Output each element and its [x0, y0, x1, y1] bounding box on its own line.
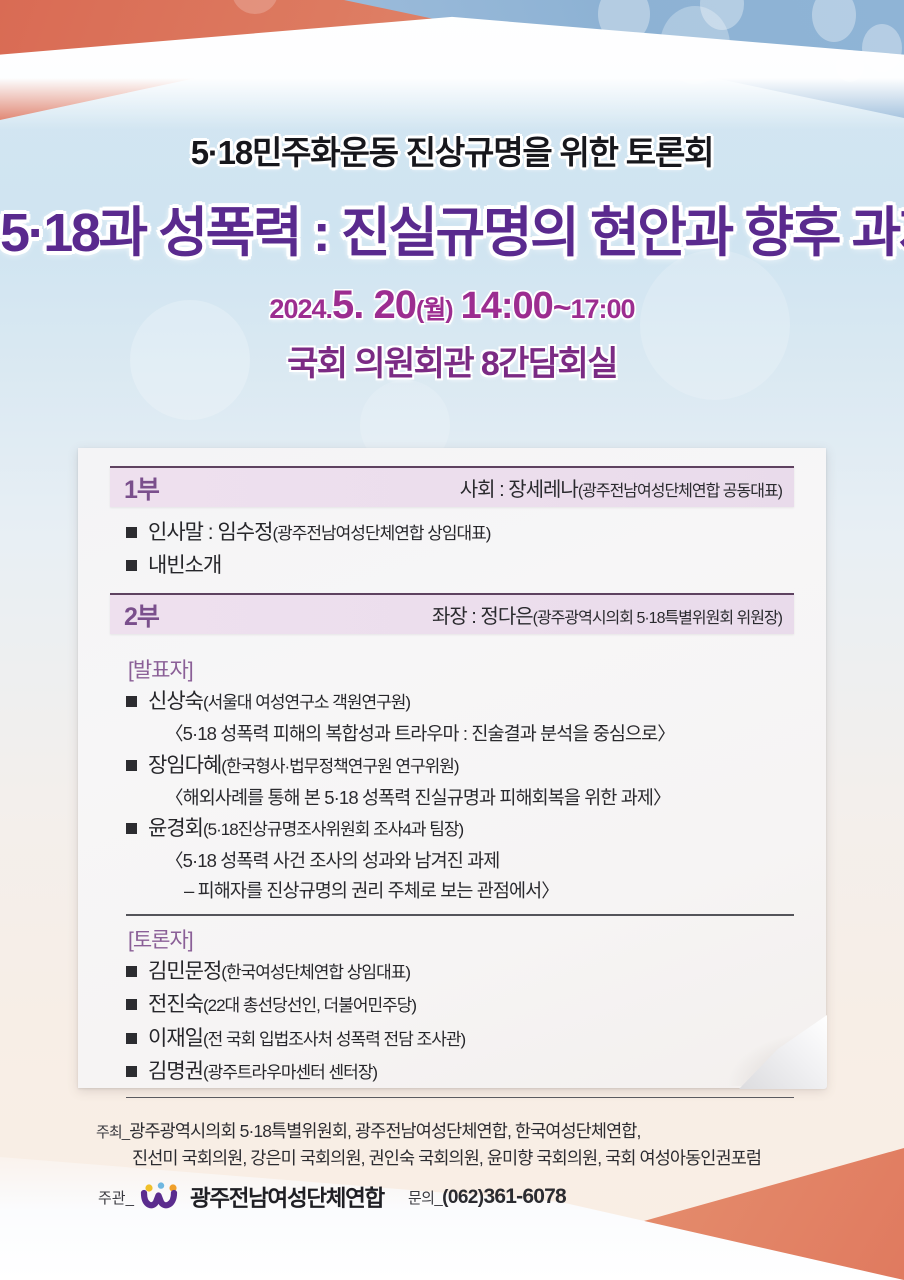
program-content: 1부 사회 : 장세레나(광주전남여성단체연합 공동대표) 인사말 : 임수정(… [110, 466, 794, 1106]
bokeh-circle [812, 0, 856, 42]
poster-header: 5·18민주화운동 진상규명을 위한 토론회 5·18과 성폭력 : 진실규명의… [0, 126, 904, 385]
host-line-2: 진선미 국회의원, 강은미 국회의원, 권인숙 국회의원, 윤미향 국회의원, … [132, 1145, 904, 1172]
square-bullet-icon [126, 760, 137, 771]
contact-info: 문의_(062)361-6078 [408, 1185, 566, 1209]
time-separator: ~ [553, 289, 571, 325]
presenter-topic: 〈5·18 성폭력 사건 조사의 성과와 남겨진 과제 [165, 848, 794, 873]
event-poster: 5·18민주화운동 진상규명을 위한 토론회 5·18과 성폭력 : 진실규명의… [0, 0, 904, 1280]
organizer-row: 주관_ 광주전남여성단체연합 문의_(062)361-6078 [98, 1181, 904, 1213]
date-year: 2024. [269, 294, 332, 324]
square-bullet-icon [126, 999, 137, 1010]
square-bullet-icon [126, 1033, 137, 1044]
part2-chair-affiliation: (광주광역시의회 5·18특별위원회 위원장) [533, 610, 782, 627]
discussant-name: 이재일 [148, 1027, 203, 1050]
discussant-affiliation: (한국여성단체연합 상임대표) [221, 963, 410, 982]
top-right-blue-shape [344, 0, 904, 118]
item-text: 김명권(광주트라우마센터 센터장) [148, 1058, 377, 1086]
host-lead-label: 주최_ [96, 1124, 129, 1141]
bokeh-circle [598, 0, 650, 44]
item-text: 윤경회(5·18진상규명조사위원회 조사4과 팀장) [148, 815, 463, 843]
list-item: 내빈소개 [126, 552, 794, 580]
item-text: 이재일(전 국회 입법조사처 성폭력 전담 조사관) [148, 1025, 465, 1053]
discussant-affiliation: (22대 총선당선인, 더불어민주당) [203, 996, 416, 1015]
discussants-label: [토론자] [128, 924, 794, 954]
presenter-topic-cont: – 피해자를 진상규명의 권리 주체로 보는 관점에서〉 [184, 878, 794, 903]
discussant-affiliation: (광주트라우마센터 센터장) [203, 1063, 377, 1082]
part1-header: 1부 사회 : 장세레나(광주전남여성단체연합 공동대표) [110, 466, 794, 507]
bottom-divider [126, 1097, 794, 1099]
part1-moderator-name: 사회 : 장세레나 [460, 479, 578, 501]
discussant-name: 김민문정 [148, 960, 221, 983]
square-bullet-icon [126, 966, 137, 977]
square-bullet-icon [126, 696, 137, 707]
date-month-day: 5. 20 [332, 283, 416, 327]
host-organizations-1: 광주광역시의회 5·18특별위원회, 광주전남여성단체연합, 한국여성단체연합, [129, 1121, 640, 1141]
section-divider [126, 914, 794, 916]
list-item: 장임다혜(한국형사·법무정책연구원 연구위원) [126, 752, 794, 780]
bokeh-circle [836, 50, 864, 82]
presenter-topic: 〈해외사례를 통해 본 5·18 성폭력 진실규명과 피해회복을 위한 과제〉 [165, 785, 794, 810]
contact-area-code: (062) [442, 1187, 483, 1208]
bokeh-circle [232, 0, 278, 14]
discussant-affiliation: (전 국회 입법조사처 성폭력 전담 조사관) [203, 1030, 465, 1049]
top-left-coral-shape [0, 0, 560, 120]
item-text: 전진숙(22대 총선당선인, 더불어민주당) [148, 991, 416, 1019]
organizer-lead-label: 주관_ [98, 1187, 134, 1208]
part2-chair: 좌장 : 정다은(광주광역시의회 5·18특별위원회 위원장) [432, 600, 782, 629]
date-day-of-week: (월) [416, 296, 453, 324]
list-item: 인사말 : 임수정(광주전남여성단체연합 상임대표) [126, 519, 794, 547]
organization-logo-icon [139, 1182, 183, 1212]
item-text: 장임다혜(한국형사·법무정책연구원 연구위원) [148, 752, 459, 780]
presenters-label: [발표자] [128, 654, 794, 684]
list-item: 전진숙(22대 총선당선인, 더불어민주당) [126, 991, 794, 1019]
contact-lead-label: 문의_ [408, 1190, 442, 1207]
part2-header: 2부 좌장 : 정다은(광주광역시의회 5·18특별위원회 위원장) [110, 593, 794, 634]
discussant-name: 전진숙 [148, 993, 203, 1016]
item-text: 내빈소개 [148, 552, 221, 580]
program-card: 1부 사회 : 장세레나(광주전남여성단체연합 공동대표) 인사말 : 임수정(… [78, 448, 826, 1088]
list-item: 윤경회(5·18진상규명조사위원회 조사4과 팀장) [126, 815, 794, 843]
discussant-name: 김명권 [148, 1060, 203, 1083]
host-line-1: 주최_광주광역시의회 5·18특별위원회, 광주전남여성단체연합, 한국여성단체… [96, 1118, 904, 1145]
poster-kicker: 5·18민주화운동 진상규명을 위한 토론회 [0, 126, 904, 174]
poster-title: 5·18과 성폭력 : 진실규명의 현안과 향후 과제 [0, 188, 904, 267]
item-label: 내빈소개 [148, 554, 221, 577]
presenter-affiliation: (서울대 여성연구소 객원연구원) [203, 693, 410, 712]
contact-phone-number: 361-6078 [483, 1185, 565, 1208]
list-item: 김명권(광주트라우마센터 센터장) [126, 1058, 794, 1086]
square-bullet-icon [126, 823, 137, 834]
part1-number: 1부 [124, 470, 159, 506]
event-venue: 국회 의원회관 8간담회실 [0, 336, 904, 385]
square-bullet-icon [126, 1066, 137, 1077]
part2-chair-name: 좌장 : 정다은 [432, 606, 533, 628]
square-bullet-icon [126, 560, 137, 571]
part1-items: 인사말 : 임수정(광주전남여성단체연합 상임대표) 내빈소개 [110, 507, 794, 593]
item-affiliation: (광주전남여성단체연합 상임대표) [272, 524, 490, 543]
part1-moderator: 사회 : 장세레나(광주전남여성단체연합 공동대표) [460, 473, 782, 502]
square-bullet-icon [126, 527, 137, 538]
item-label: 인사말 : 임수정 [148, 521, 272, 544]
presenters-section: [발표자] 신상숙(서울대 여성연구소 객원연구원) 〈5·18 성폭력 피해의… [110, 634, 794, 1106]
list-item: 이재일(전 국회 입법조사처 성폭력 전담 조사관) [126, 1025, 794, 1053]
presenter-affiliation: (한국형사·법무정책연구원 연구위원) [221, 757, 458, 776]
time-end: 17:00 [571, 294, 635, 324]
poster-footer: 주최_광주광역시의회 5·18특별위원회, 광주전남여성단체연합, 한국여성단체… [0, 1118, 904, 1213]
presenter-topic: 〈5·18 성폭력 피해의 복합성과 트라우마 : 진술결과 분석을 중심으로〉 [165, 721, 794, 746]
presenter-name: 윤경회 [148, 817, 203, 840]
item-text: 신상숙(서울대 여성연구소 객원연구원) [148, 688, 410, 716]
part2-number: 2부 [124, 597, 159, 633]
event-datetime: 2024.5. 20(월)14:00~17:00 [0, 283, 904, 328]
bokeh-circle [700, 0, 744, 30]
presenter-name: 장임다혜 [148, 754, 221, 777]
presenter-name: 신상숙 [148, 690, 203, 713]
item-text: 인사말 : 임수정(광주전남여성단체연합 상임대표) [148, 519, 490, 547]
item-text: 김민문정(한국여성단체연합 상임대표) [148, 958, 410, 986]
bokeh-circle [862, 24, 902, 72]
time-start: 14:00 [461, 285, 553, 327]
part1-moderator-affiliation: (광주전남여성단체연합 공동대표) [578, 483, 782, 500]
host-organizations-2: 진선미 국회의원, 강은미 국회의원, 권인숙 국회의원, 윤미향 국회의원, … [132, 1148, 761, 1168]
top-white-chevron [0, 0, 904, 130]
organizer-name: 광주전남여성단체연합 [190, 1181, 384, 1213]
bokeh-circle [660, 6, 730, 84]
list-item: 신상숙(서울대 여성연구소 객원연구원) [126, 688, 794, 716]
presenter-affiliation: (5·18진상규명조사위원회 조사4과 팀장) [203, 820, 463, 839]
list-item: 김민문정(한국여성단체연합 상임대표) [126, 958, 794, 986]
